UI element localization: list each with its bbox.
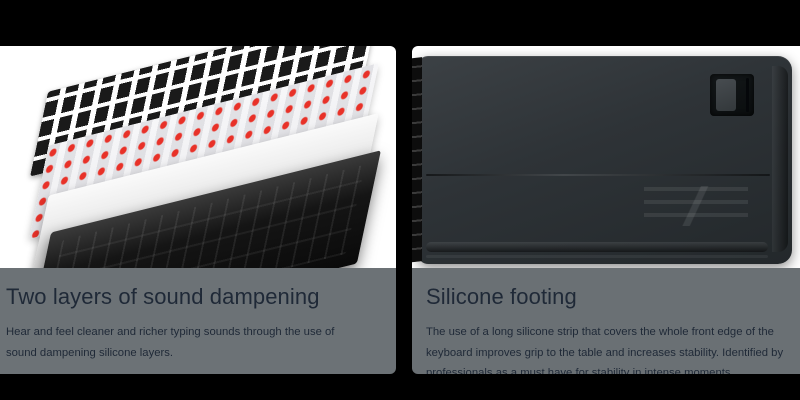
feature-card-sound-dampening[interactable]: Two layers of sound dampening Hear and f… <box>0 46 396 374</box>
card-title: Two layers of sound dampening <box>6 284 382 309</box>
keyboard-side-profile-slats <box>412 57 422 263</box>
kickstand-foot <box>710 74 754 116</box>
card-media-keyboard-underside <box>412 46 800 270</box>
exploded-keyboard-illustration <box>0 46 396 270</box>
card-title: Silicone footing <box>426 284 794 309</box>
case-right-bevel <box>772 66 788 252</box>
card-caption-sound-dampening: Two layers of sound dampening Hear and f… <box>0 268 396 374</box>
card-body-text: Hear and feel cleaner and richer typing … <box>6 322 366 363</box>
card-caption-silicone-footing: Silicone footing The use of a long silic… <box>412 268 800 374</box>
feature-cards-stage: Two layers of sound dampening Hear and f… <box>0 0 800 400</box>
keyboard-underside-illustration <box>418 56 792 264</box>
silicone-strip-highlight <box>426 255 768 258</box>
card-media-exploded-keyboard <box>0 46 396 270</box>
debossed-model-logo <box>644 186 748 226</box>
case-seam-line <box>426 174 770 176</box>
silicone-front-strip <box>426 242 768 252</box>
card-body-text: The use of a long silicone strip that co… <box>426 322 786 374</box>
feature-card-silicone-footing[interactable]: Silicone footing The use of a long silic… <box>412 46 800 374</box>
